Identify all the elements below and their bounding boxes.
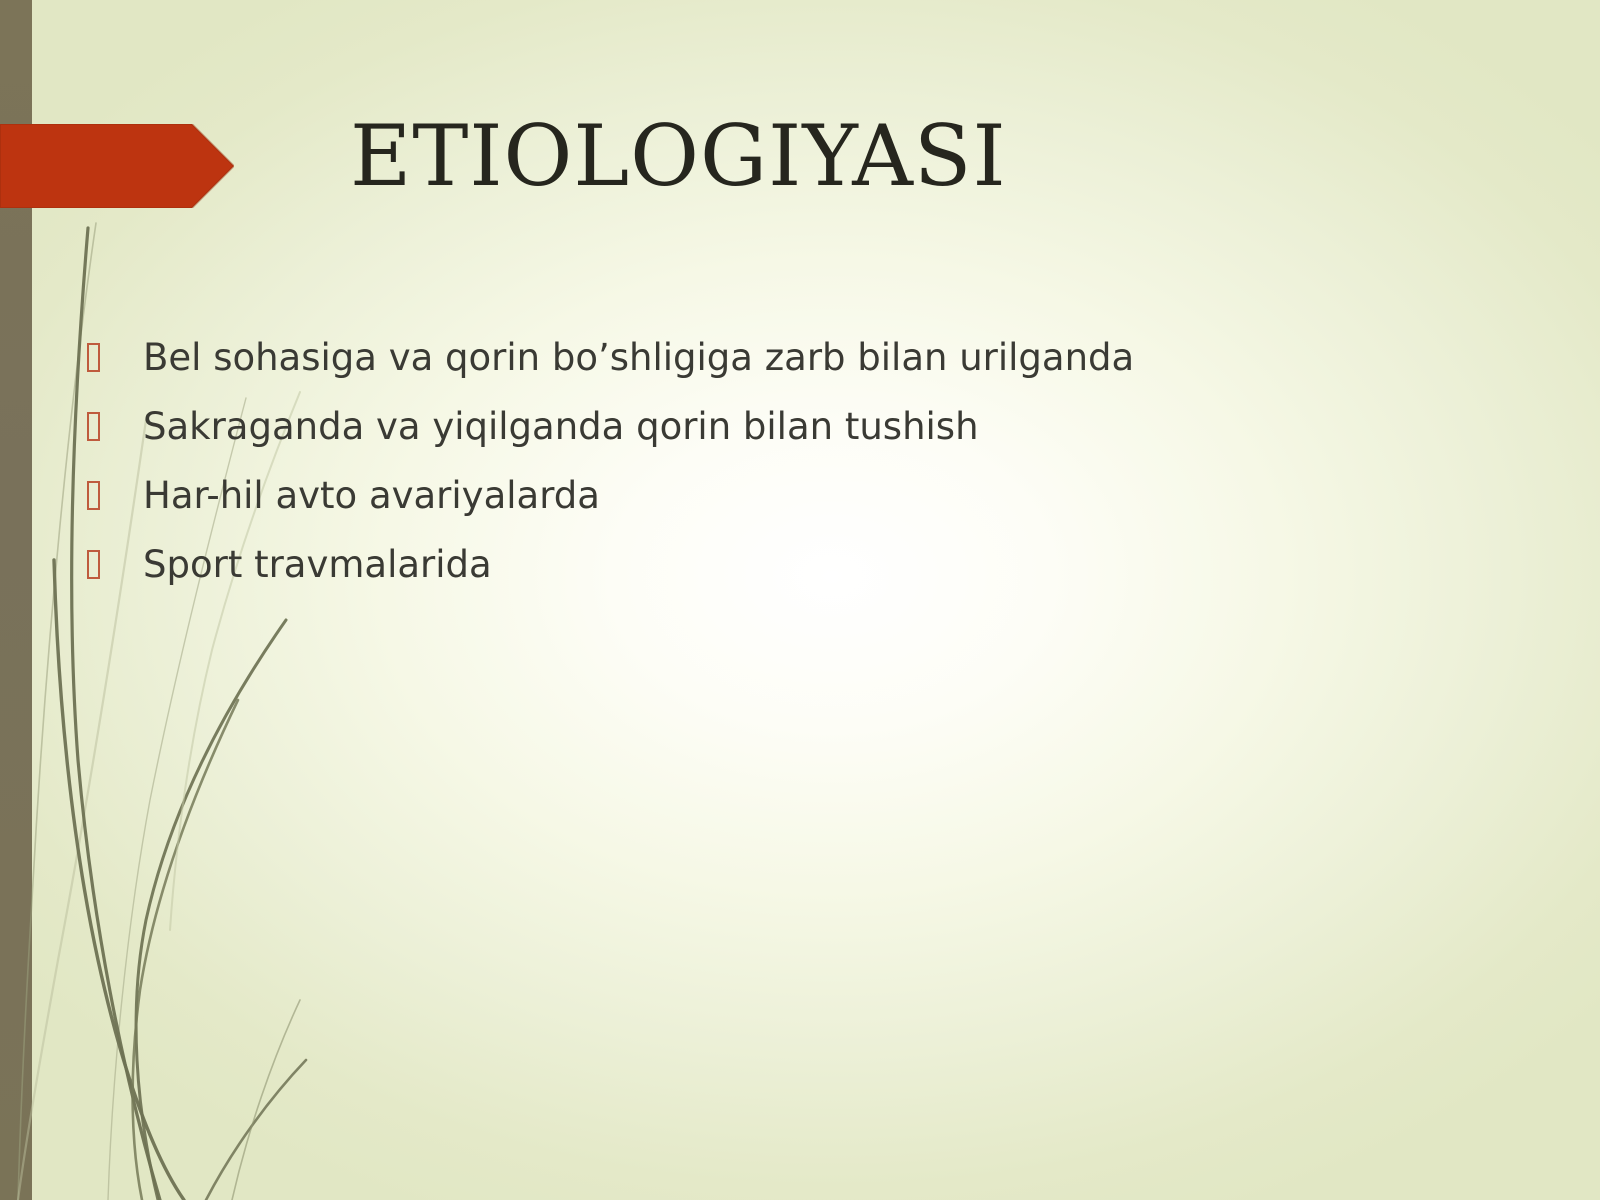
- page-title: ETIOLOGIYASI: [350, 112, 1530, 200]
- list-item: Sakraganda va yiqilganda qorin bilan tus…: [80, 402, 1400, 471]
- red-arrow-banner: [0, 124, 234, 208]
- list-item: Sport travmalarida: [80, 540, 1400, 609]
- list-item: Bel sohasiga va qorin bo’shligiga zarb b…: [80, 333, 1400, 402]
- bullet-box-icon: [87, 343, 100, 372]
- bullet-box-icon: [87, 412, 100, 441]
- list-item: Har-hil avto avariyalarda: [80, 471, 1400, 540]
- presentation-slide: ETIOLOGIYASI Bel sohasiga va qorin bo’sh…: [0, 0, 1600, 1200]
- list-item-label: Bel sohasiga va qorin bo’shligiga zarb b…: [143, 333, 1400, 382]
- list-item-label: Sport travmalarida: [143, 540, 1400, 589]
- bullet-box-icon: [87, 550, 100, 579]
- bullet-box-icon: [87, 481, 100, 510]
- bullet-list: Bel sohasiga va qorin bo’shligiga zarb b…: [80, 333, 1400, 609]
- list-item-label: Sakraganda va yiqilganda qorin bilan tus…: [143, 402, 1400, 451]
- list-item-label: Har-hil avto avariyalarda: [143, 471, 1400, 520]
